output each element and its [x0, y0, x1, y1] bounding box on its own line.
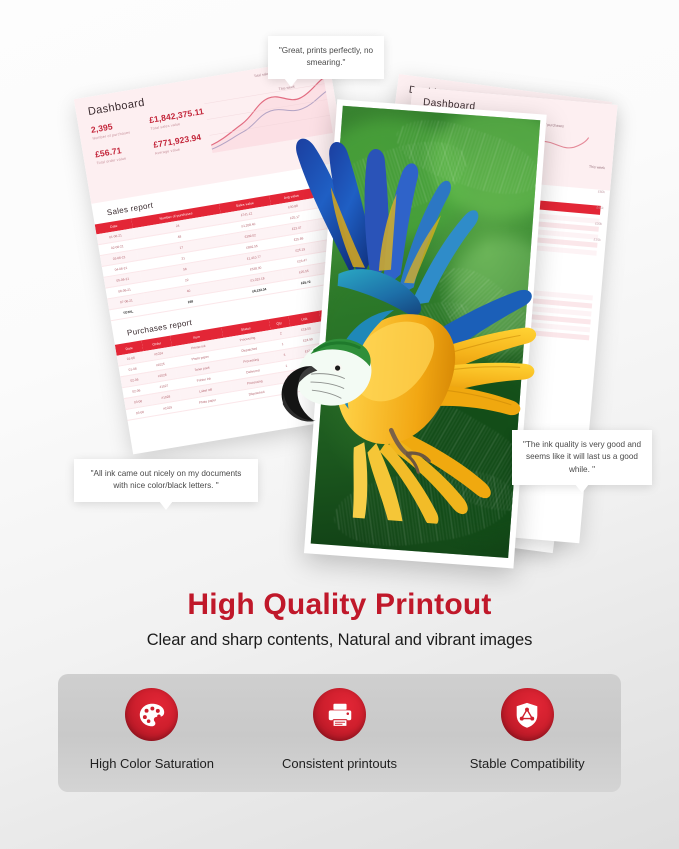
stat-card: £1,842,375.11 Total sales value	[148, 105, 209, 131]
feature-stable-compatibility: Stable Compatibility	[433, 674, 621, 792]
printer-icon	[325, 700, 355, 730]
page-title: High Quality Printout	[0, 588, 679, 622]
feature-bar: High Color Saturation Consistent printou…	[58, 674, 621, 792]
feature-label: Consistent printouts	[282, 756, 397, 771]
feature-label: High Color Saturation	[90, 756, 214, 771]
macaw-upper-wing	[284, 138, 483, 319]
testimonial-bubble-top: "Great, prints perfectly, no smearing."	[268, 36, 384, 79]
stat-card: £771,923.94 Average value	[153, 130, 214, 156]
testimonial-bubble-left: "All ink came out nicely on my documents…	[74, 459, 258, 502]
feature-consistent-printouts: Consistent printouts	[246, 674, 434, 792]
stat-card: £56.71 Total order value	[94, 140, 155, 166]
page-subtitle: Clear and sharp contents, Natural and vi…	[0, 631, 679, 650]
photo-print	[304, 99, 547, 568]
chart-tooltip-middle: This week	[589, 165, 605, 170]
feature-high-color-saturation: High Color Saturation	[58, 674, 246, 792]
feature-label: Stable Compatibility	[470, 756, 585, 771]
palette-icon-badge	[125, 688, 178, 741]
poster-canvas: Dashboard Total sales value Number of pu…	[0, 0, 679, 849]
testimonial-bubble-right: "The ink quality is very good and seems …	[512, 430, 652, 485]
printer-icon-badge	[313, 688, 366, 741]
dashboard-stats: 2,395 Number of purchases £1,842,375.11 …	[90, 105, 215, 174]
shield-icon	[512, 700, 542, 730]
palette-icon	[137, 700, 167, 730]
shield-icon-badge	[501, 688, 554, 741]
stat-card: 2,395 Number of purchases	[90, 115, 151, 141]
